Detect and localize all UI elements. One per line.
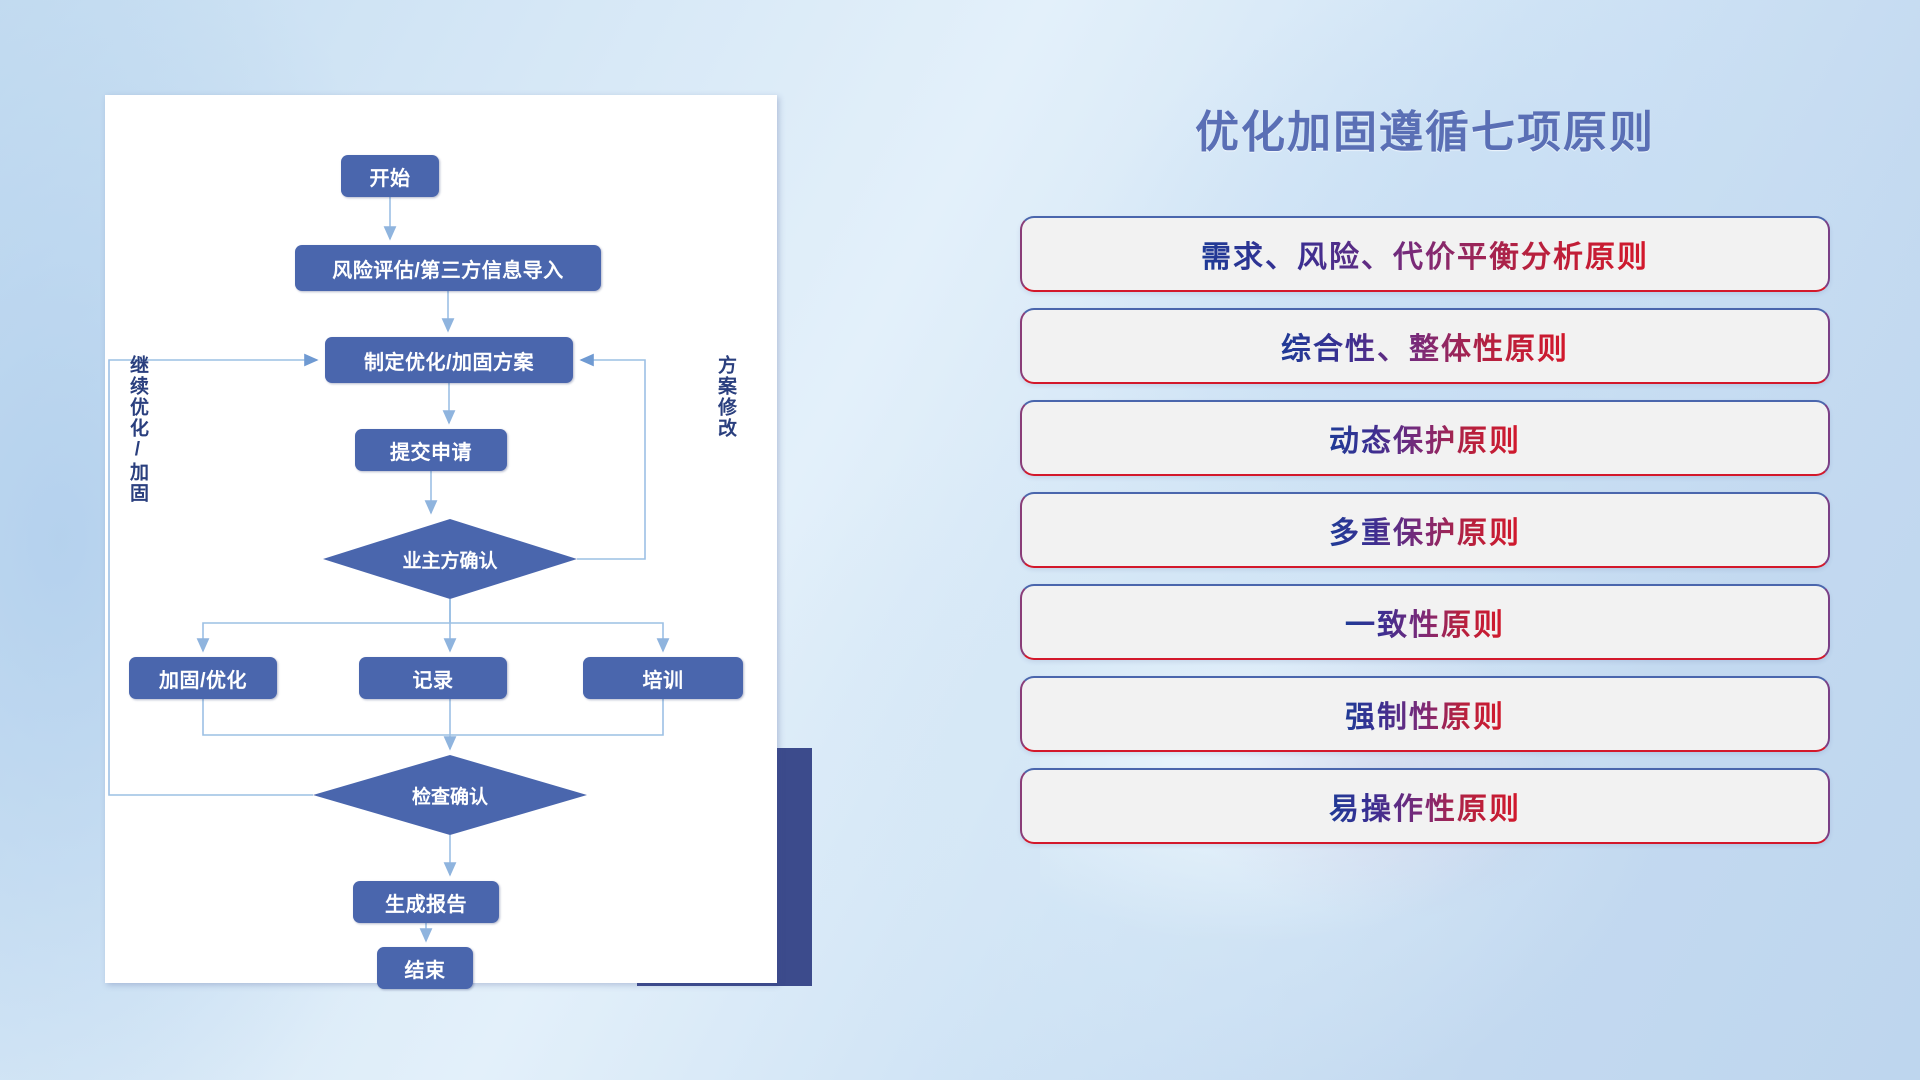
flow-node-make-plan-label: 制定优化/加固方案 [364, 346, 534, 375]
principle-label: 多重保护原则 [1329, 508, 1521, 552]
flow-node-end[interactable]: 结束 [377, 947, 473, 989]
flow-node-generate-report[interactable]: 生成报告 [353, 881, 499, 923]
flow-node-generate-report-label: 生成报告 [385, 888, 467, 917]
flow-node-training[interactable]: 培训 [583, 657, 743, 699]
flowchart-card: 开始 风险评估/第三方信息导入 制定优化/加固方案 提交申请 业主方确认 加固/… [105, 95, 777, 983]
principle-label: 需求、风险、代价平衡分析原则 [1201, 232, 1649, 276]
flow-node-reinforce[interactable]: 加固/优化 [129, 657, 277, 699]
principle-card-5[interactable]: 一致性原则 [1020, 584, 1830, 660]
principle-label: 易操作性原则 [1329, 784, 1521, 828]
principle-card-4[interactable]: 多重保护原则 [1020, 492, 1830, 568]
flow-label-right-loop: 方案修改 [715, 355, 735, 439]
flow-label-left-loop: 继续优化/加固 [127, 355, 147, 504]
flow-node-risk-assessment-label: 风险评估/第三方信息导入 [332, 254, 564, 283]
flow-node-risk-assessment[interactable]: 风险评估/第三方信息导入 [295, 245, 601, 291]
principle-card-3[interactable]: 动态保护原则 [1020, 400, 1830, 476]
principles-panel: 优化加固遵循七项原则 需求、风险、代价平衡分析原则 综合性、整体性原则 动态保护… [1020, 96, 1830, 996]
flow-node-reinforce-label: 加固/优化 [159, 664, 247, 693]
flow-node-check-confirm[interactable]: 检查确认 [313, 755, 587, 835]
flow-node-submit-application[interactable]: 提交申请 [355, 429, 507, 471]
principles-list: 需求、风险、代价平衡分析原则 综合性、整体性原则 动态保护原则 多重保护原则 一… [1020, 216, 1830, 860]
principle-label: 综合性、整体性原则 [1281, 324, 1569, 368]
principle-card-6[interactable]: 强制性原则 [1020, 676, 1830, 752]
flow-node-training-label: 培训 [643, 664, 684, 693]
flow-node-record-label: 记录 [413, 664, 454, 693]
flow-node-check-confirm-label: 检查确认 [412, 782, 488, 809]
flow-node-owner-confirm-label: 业主方确认 [402, 546, 497, 573]
slide-root: 开始 风险评估/第三方信息导入 制定优化/加固方案 提交申请 业主方确认 加固/… [0, 0, 1920, 1080]
panel-title: 优化加固遵循七项原则 [1020, 96, 1830, 160]
principle-card-7[interactable]: 易操作性原则 [1020, 768, 1830, 844]
flow-node-record[interactable]: 记录 [359, 657, 507, 699]
flow-node-submit-application-label: 提交申请 [390, 436, 472, 465]
principle-label: 一致性原则 [1345, 600, 1505, 644]
principle-label: 强制性原则 [1345, 692, 1505, 736]
flow-node-make-plan[interactable]: 制定优化/加固方案 [325, 337, 573, 383]
principle-label: 动态保护原则 [1329, 416, 1521, 460]
flow-node-start-label: 开始 [370, 162, 411, 191]
flow-node-end-label: 结束 [405, 954, 446, 983]
principle-card-2[interactable]: 综合性、整体性原则 [1020, 308, 1830, 384]
flow-node-owner-confirm[interactable]: 业主方确认 [323, 519, 577, 599]
principle-card-1[interactable]: 需求、风险、代价平衡分析原则 [1020, 216, 1830, 292]
flow-node-start[interactable]: 开始 [341, 155, 439, 197]
